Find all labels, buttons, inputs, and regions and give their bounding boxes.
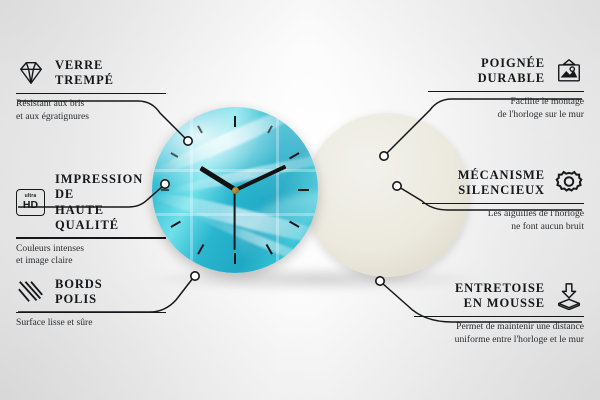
- callout-divider: [16, 237, 166, 239]
- callout-header: MÉCANISMESILENCIEUX: [422, 168, 584, 199]
- callout-divider: [414, 316, 584, 318]
- diamond-icon: [16, 59, 46, 87]
- callout-divider: [422, 203, 584, 205]
- callout-title: POIGNÉEDURABLE: [478, 56, 545, 87]
- clock-face: [152, 107, 318, 273]
- callout-description: Facilite le montagede l'horloge sur le m…: [428, 96, 584, 122]
- hanging-frame-icon: [554, 57, 584, 85]
- callout-header: BORDSPOLIS: [16, 277, 166, 308]
- callout-header: POIGNÉEDURABLE: [428, 56, 584, 87]
- callout-title: MÉCANISMESILENCIEUX: [458, 168, 545, 199]
- callout-header: ultra HD IMPRESSION DEHAUTE QUALITÉ: [16, 172, 166, 233]
- hands-center-cap: [232, 187, 239, 194]
- callout-header: VERRETREMPÉ: [16, 58, 166, 89]
- callout-entretoise-en-mousse: ENTRETOISEEN MOUSSE Permet de maintenir …: [414, 281, 584, 347]
- callout-description: Couleurs intenseset image claire: [16, 243, 166, 269]
- callout-divider: [428, 91, 584, 93]
- callout-bords-polis: BORDSPOLIS Surface lisse et sûre: [16, 277, 166, 330]
- badge-main-label: HD: [23, 200, 38, 211]
- ultra-hd-badge: ultra HD: [16, 189, 45, 216]
- callout-description: Les aiguilles de l'horlogene font aucun …: [422, 208, 584, 234]
- callout-title: VERRETREMPÉ: [55, 58, 114, 89]
- callout-poignee-durable: POIGNÉEDURABLE Facilite le montagede l'h…: [428, 56, 584, 122]
- callout-mecanisme-silencieux: MÉCANISMESILENCIEUX Les aiguilles de l'h…: [422, 168, 584, 234]
- product-infographic: VERRETREMPÉ Résistant aux briset aux égr…: [0, 0, 600, 400]
- callout-header: ENTRETOISEEN MOUSSE: [414, 281, 584, 312]
- hour-tick: [161, 189, 235, 191]
- callout-description: Résistant aux briset aux égratignures: [16, 98, 166, 124]
- hour-tick: [235, 189, 309, 191]
- second-hand: [234, 190, 236, 250]
- foam-spacer-icon: [554, 282, 584, 310]
- polished-edges-icon: [16, 278, 46, 306]
- badge-top-label: ultra: [25, 194, 37, 199]
- callout-divider: [16, 312, 166, 314]
- callout-impression-haute-qualite: ultra HD IMPRESSION DEHAUTE QUALITÉ Coul…: [16, 172, 166, 268]
- callout-title: IMPRESSION DEHAUTE QUALITÉ: [55, 172, 166, 233]
- callout-title: BORDSPOLIS: [55, 277, 103, 308]
- hour-tick: [234, 116, 236, 190]
- callout-description: Permet de maintenir une distanceuniforme…: [414, 321, 584, 347]
- callout-description: Surface lisse et sûre: [16, 317, 166, 330]
- callout-divider: [16, 93, 166, 95]
- callout-verre-trempe: VERRETREMPÉ Résistant aux briset aux égr…: [16, 58, 166, 124]
- ultra-hd-icon: ultra HD: [16, 189, 46, 217]
- callout-title: ENTRETOISEEN MOUSSE: [455, 281, 545, 312]
- gear-icon: [554, 169, 584, 197]
